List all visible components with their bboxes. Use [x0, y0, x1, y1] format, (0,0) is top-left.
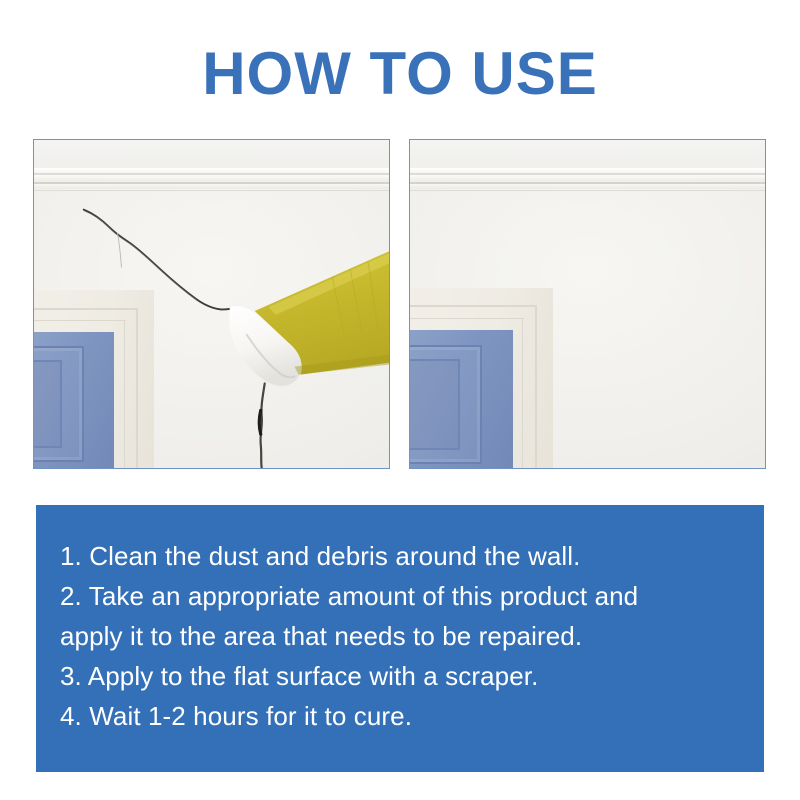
instruction-line: 3. Apply to the flat surface with a scra… — [60, 656, 740, 696]
photo-panel-group — [33, 139, 767, 471]
casing-line-3 — [409, 318, 524, 319]
photo-panel-after — [409, 139, 766, 469]
page-title: HOW TO USE — [0, 40, 800, 108]
instruction-line: 1. Clean the dust and debris around the … — [60, 536, 740, 576]
casing-line-4 — [522, 318, 523, 469]
casing-line-2 — [535, 305, 537, 469]
photo-panel-before — [33, 139, 390, 469]
instruction-line: apply it to the area that needs to be re… — [60, 616, 740, 656]
instruction-line: 2. Take an appropriate amount of this pr… — [60, 576, 740, 616]
casing-line-1 — [409, 305, 537, 307]
scraper-icon — [34, 140, 389, 468]
door-panel-inner — [409, 359, 460, 450]
instruction-line: 4. Wait 1-2 hours for it to cure. — [60, 696, 740, 736]
crown-molding-icon — [410, 168, 765, 194]
ceiling-surface — [410, 140, 765, 170]
instructions-panel: 1. Clean the dust and debris around the … — [36, 505, 764, 772]
